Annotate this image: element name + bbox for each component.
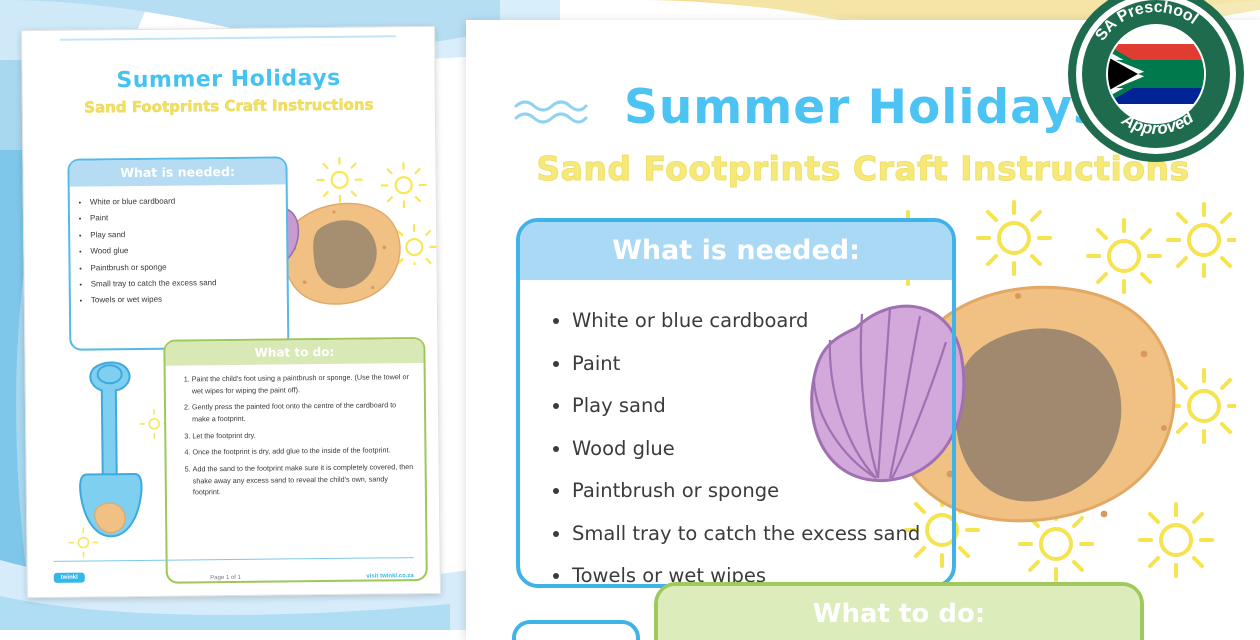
small-needed-list: White or blue cardboard Paint Play sand …: [90, 192, 281, 309]
small-todo-list: Paint the child's foot using a paintbrus…: [192, 371, 415, 498]
small-todo-box: What to do: Paint the child's foot using…: [163, 337, 428, 584]
needed-box-bottom-edge: [512, 620, 640, 640]
status-badge: SA Preschool Approved: [1064, 0, 1248, 166]
list-item: White or blue cardboard: [90, 192, 280, 210]
small-needed-box: What is needed: White or blue cardboard …: [67, 156, 289, 350]
document-preview-thumbnail[interactable]: Summer Holidays Sand Footprints Craft In…: [21, 26, 441, 598]
wave-divider-icon: [512, 98, 590, 124]
needed-box: What is needed: White or blue cardboard …: [516, 218, 956, 588]
list-item: Wood glue: [572, 428, 942, 471]
small-needed-heading: What is needed:: [69, 158, 285, 186]
small-page-footer: twinkl Page 1 of 1 visit twinkl.co.za: [54, 557, 414, 583]
small-wave-divider: [60, 35, 396, 41]
list-item: Towels or wet wipes: [91, 291, 281, 309]
footer-url: visit twinkl.co.za: [366, 573, 413, 579]
list-item: Paint: [90, 209, 280, 227]
list-item: Small tray to catch the excess sand: [91, 274, 281, 292]
list-item: Play sand: [90, 225, 280, 243]
small-page-title: Summer Holidays: [22, 65, 434, 94]
list-item: Gently press the painted foot onto the c…: [192, 399, 414, 425]
list-item: Once the footprint is dry, add glue to t…: [192, 444, 414, 458]
todo-box: What to do:: [654, 582, 1144, 640]
twinkl-logo: twinkl: [54, 573, 85, 583]
list-item: White or blue cardboard: [572, 300, 942, 343]
page-number: Page 1 of 1: [210, 575, 241, 581]
list-item: Paintbrush or sponge: [572, 470, 942, 513]
list-item: Paintbrush or sponge: [90, 258, 280, 276]
needed-list: White or blue cardboard Paint Play sand …: [554, 300, 942, 598]
todo-heading: What to do:: [658, 586, 1140, 640]
list-item: Paint the child's foot using a paintbrus…: [192, 371, 414, 397]
sa-preschool-approved-badge: SA Preschool Approved: [1064, 0, 1248, 166]
list-item: Let the footprint dry.: [192, 428, 414, 442]
small-todo-heading: What to do:: [165, 339, 423, 366]
list-item: Paint: [572, 343, 942, 386]
list-item: Wood glue: [90, 242, 280, 260]
list-item: Small tray to catch the excess sand: [572, 513, 942, 556]
list-item: Add the sand to the footprint make sure …: [193, 461, 415, 498]
needed-heading: What is needed:: [520, 222, 952, 280]
list-item: Play sand: [572, 385, 942, 428]
small-page-subtitle: Sand Footprints Craft Instructions: [23, 95, 435, 117]
spade-icon: [65, 356, 177, 567]
